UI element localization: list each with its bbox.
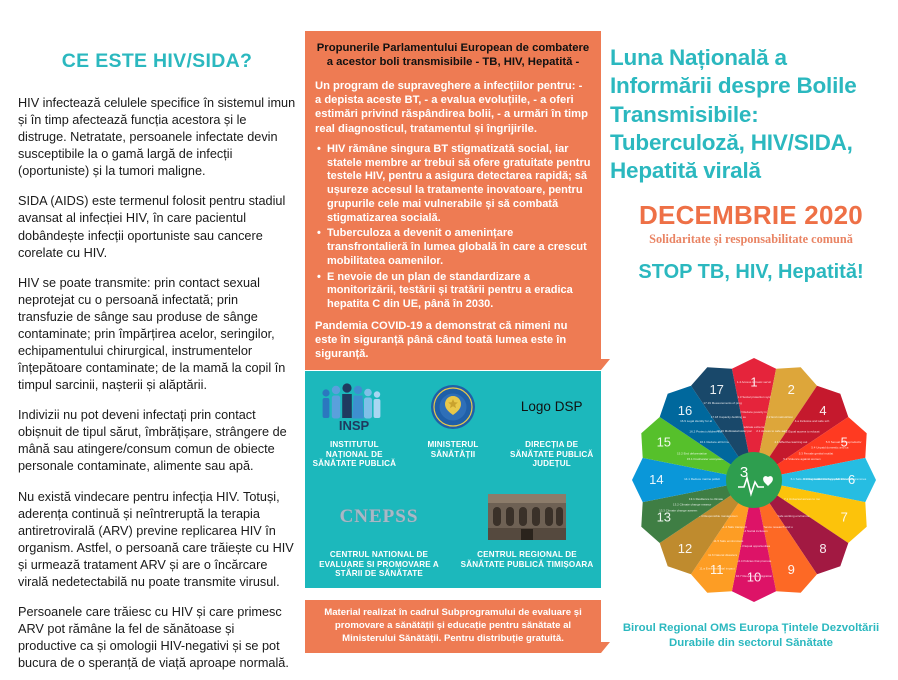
sdg-target-label: 17.18 Capacity-building su	[711, 415, 747, 419]
partner-logos-panel: INSP INSTITUTUL NAȚIONAL DE SĂNĂTATE PUB…	[305, 371, 601, 588]
panel-corner-notch	[601, 642, 610, 653]
sdg-petal-number-4: 4	[819, 403, 826, 418]
list-item: Tuberculoza a devenit o amenințare trans…	[315, 227, 591, 268]
list-item: HIV rămâne singura BT stigmatizată socia…	[315, 143, 591, 226]
logo-cnepss: CNEPSS CENTRUL NATIONAL DE EVALUARE SI P…	[305, 489, 453, 588]
sdg-target-label: 10.4 Policies that promote	[737, 559, 772, 563]
funding-disclaimer-text: Material realizat în cadrul Subprogramul…	[314, 607, 592, 645]
sdg-target-label: 16.9 Legal identity for al	[680, 419, 712, 423]
eu-proposals-panel: Propunerile Parlamentului European de co…	[305, 31, 601, 370]
government-seal-logo	[429, 379, 477, 435]
logo-placeholder: Logo DSP	[521, 379, 583, 435]
covid-statement: Pandemia COVID-19 a demonstrat că nimeni…	[315, 319, 591, 362]
logo-insp: INSP INSTITUTUL NAȚIONAL DE SĂNĂTATE PUB…	[305, 379, 404, 483]
funding-disclaimer-panel: Material realizat în cadrul Subprogramul…	[305, 600, 601, 653]
sdg-target-label: 5.6 Sexual and reproductiv	[826, 440, 862, 444]
sdg-target-label: 11.6 Natural disasters	[708, 553, 737, 557]
dsp-logo-text: Logo DSP	[521, 399, 583, 415]
campaign-subtitle: Solidaritate și responsabilitate comună	[610, 232, 892, 247]
sdg-target-label: 4.1 Effective learning out	[774, 440, 807, 444]
sdg-target-label: 15.1 Freshwater ecosystems	[687, 457, 726, 461]
cnepss-wordmark-logo: CNEPSS	[340, 489, 419, 545]
sdg-target-label: 11.2 Safe transport	[721, 525, 746, 529]
sdg-target-label: 13.2 Climate change measur	[673, 503, 711, 507]
sdg-target-label: 12.4 Responsible managemen	[697, 514, 738, 518]
sdg-target-label: 1.3 Social protection syst	[737, 395, 771, 399]
sdg-target-label: 15.2 End deforestation	[677, 451, 708, 455]
campaign-slogan: STOP TB, HIV, Hepatită!	[610, 261, 892, 284]
sdg-target-label: 13.1 Resilience to climate	[689, 497, 724, 501]
sdg-target-label: 5.2 Violence against women	[783, 457, 821, 461]
right-column: Luna Națională a Informării despre Bolil…	[610, 44, 892, 284]
poster-canvas: CE ESTE HIV/SIDA? HIV infectează celulel…	[0, 0, 898, 680]
paragraph-treatment: Nu există vindecare pentru infecția HIV.…	[18, 489, 296, 591]
logo-caption: MINISTERUL SĂNĂTĂȚII	[404, 440, 503, 459]
logo-caption: CENTRUL REGIONAL DE SĂNĂTATE PUBLICĂ TIM…	[453, 550, 601, 569]
sdg-center-hub	[726, 452, 782, 508]
paragraph-life-expectancy: Persoanele care trăiesc cu HIV și care p…	[18, 604, 296, 672]
left-column: CE ESTE HIV/SIDA? HIV infectează celulel…	[18, 50, 296, 660]
sdg-wheel: 11.1 Eradicate extreme pove1.2 Reduce po…	[618, 356, 890, 618]
sdg-petal-number-8: 8	[819, 541, 826, 556]
logo-dsp-placeholder: Logo DSP DIRECȚIA DE SĂNĂTATE PUBLICĂ JU…	[502, 379, 601, 483]
sdg-target-label: 11.a Environmental impact	[699, 567, 734, 571]
list-item: E nevoie de un plan de standardizare a m…	[315, 271, 591, 312]
sdg-target-label: 1.4 Access to basic servic	[737, 380, 772, 384]
sdg-target-label: 10.3 Equal opportunities	[738, 544, 771, 548]
sdg-petal-number-7: 7	[841, 509, 848, 524]
sdg-petal-number-16: 16	[678, 403, 692, 418]
campaign-date: DECEMBRIE 2020	[610, 200, 892, 231]
sdg-target-label: 14.1 Reduce marine polluti	[684, 477, 720, 481]
sdg-target-label: 4.a Inclusive and safe sch	[795, 419, 830, 423]
logo-row-bottom: CNEPSS CENTRUL NATIONAL DE EVALUARE SI P…	[305, 483, 601, 588]
sdg-petal-number-12: 12	[678, 541, 692, 556]
sdg-petal-number-17: 17	[709, 382, 723, 397]
sdg-target-label: 5.3 Female genital mutilat	[799, 451, 834, 455]
campaign-title: Luna Națională a Informării despre Bolil…	[610, 44, 892, 186]
page-title: CE ESTE HIV/SIDA?	[18, 50, 296, 73]
paragraph-intro: HIV infectează celulele specifice în sis…	[18, 95, 296, 180]
sdg-target-label: 2.2 End malnutrition	[766, 415, 793, 419]
sdg-petal-number-14: 14	[649, 472, 663, 487]
logo-caption: CENTRUL NATIONAL DE EVALUARE SI PROMOVAR…	[305, 550, 453, 579]
sdg-petal-number-2: 2	[788, 382, 795, 397]
eu-proposals-bullet-list: HIV rămâne singura BT stigmatizată socia…	[315, 143, 591, 312]
sdg-target-label: 5.4 Unpaid domestic and ca	[811, 446, 849, 450]
logo-caption: INSTITUTUL NAȚIONAL DE SĂNĂTATE PUBLICĂ	[305, 440, 404, 469]
logo-crsp-timisoara: CENTRUL REGIONAL DE SĂNĂTATE PUBLICĂ TIM…	[453, 489, 601, 588]
cnepss-wordmark: CNEPSS	[340, 506, 419, 528]
left-body-text: HIV infectează celulele specifice în sis…	[18, 95, 296, 672]
building-photo	[488, 489, 566, 545]
sdg-target-label: 17.19 Measurements of prog	[703, 401, 742, 405]
insp-wordmark: INSP	[339, 418, 370, 432]
logo-ministry-health: MINISTERUL SĂNĂTĂȚII	[404, 379, 503, 483]
insp-people-logo: INSP	[318, 379, 390, 435]
sdg-target-label: 1.2 Reduce poverty in all	[737, 410, 770, 414]
logo-caption: DIRECȚIA DE SĂNĂTATE PUBLICĂ JUDEȚUL	[502, 440, 601, 469]
sdg-petal-number-15: 15	[657, 435, 671, 450]
sdg-target-label: 10.2 Social inclusion	[740, 529, 768, 533]
paragraph-aids-definition: SIDA (AIDS) este termenul folosit pentru…	[18, 193, 296, 261]
sdg-target-label: 6.4 Water programmes	[836, 477, 867, 481]
who-europe-footer: Biroul Regional OMS Europa Țintele Dezvo…	[610, 621, 892, 651]
surveillance-programme-text: Un program de supraveghere a infecțiilor…	[315, 79, 591, 136]
sdg-target-label: 10.7 Responsible migration	[736, 574, 773, 578]
paragraph-transmission: HIV se poate transmite: prin contact sex…	[18, 275, 296, 395]
sdg-petal-number-9: 9	[788, 562, 795, 577]
sdg-target-label: 11.5 Safe environment	[713, 539, 743, 543]
paragraph-no-casual-transmission: Indivizii nu pot deveni infectați prin c…	[18, 407, 296, 475]
sdg-target-label: 17.16 Multistakeholder par	[716, 429, 751, 433]
eu-proposals-title: Propunerile Parlamentului European de co…	[315, 41, 591, 70]
logo-row-top: INSP INSTITUTUL NAȚIONAL DE SĂNĂTATE PUB…	[305, 371, 601, 483]
sdg-target-label: 4.2 Equal access to educat	[783, 430, 819, 434]
sdg-target-label: 7.1 Universal access to mo	[784, 497, 820, 501]
middle-column: Propunerile Parlamentului European de co…	[305, 31, 601, 370]
panel-corner-notch	[601, 359, 610, 370]
sdg-target-label: 13.3 Climate change awaren	[659, 508, 698, 512]
